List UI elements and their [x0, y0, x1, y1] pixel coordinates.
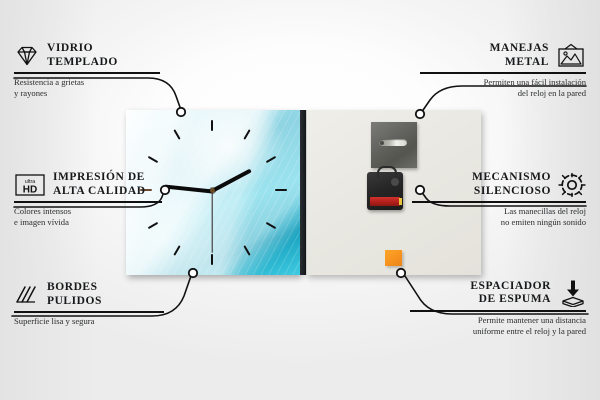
callout-description: Colores intensose imagen vívida — [14, 206, 184, 228]
callout-rule — [412, 201, 586, 203]
polished-edges-icon — [14, 284, 40, 306]
connector-dot-bordes — [189, 269, 197, 277]
callout-mecanismo-silencioso: MECANISMOSILENCIOSO — [412, 171, 586, 228]
callout-manejas-metal: MANEJASMETAL Permiten una fácil instalac… — [420, 42, 586, 99]
callout-rule — [14, 72, 160, 74]
callout-title: VIDRIOTEMPLADO — [47, 42, 118, 69]
callout-bordes-pulidos: BORDESPULIDOS Superficie lisa y segura — [14, 281, 184, 327]
callout-title: ESPACIADORDE ESPUMA — [470, 280, 551, 307]
callout-description: Permite mantener una distanciauniforme e… — [410, 315, 586, 337]
callout-description: Resistencia a grietasy rayones — [14, 77, 174, 99]
callout-description: Las manecillas del relojno emiten ningún… — [412, 206, 586, 228]
connector-dot-vidrio-templado — [177, 108, 185, 116]
callout-impresion-alta-calidad: ultra HD IMPRESIÓN DEALTA CALIDAD Colore… — [14, 171, 184, 228]
diamond-icon — [14, 45, 40, 67]
callout-rule — [420, 72, 586, 74]
connector-dot-manejas — [416, 110, 424, 118]
gear-icon — [558, 172, 586, 198]
callout-vidrio-templado: VIDRIOTEMPLADO Resistencia a grietasy ra… — [14, 42, 174, 99]
callout-rule — [14, 311, 164, 313]
callout-rule — [410, 310, 586, 312]
callout-header: ultra HD IMPRESIÓN DEALTA CALIDAD — [14, 171, 184, 198]
callout-title: IMPRESIÓN DEALTA CALIDAD — [53, 171, 146, 198]
callout-title: BORDESPULIDOS — [47, 281, 102, 308]
callout-description: Permiten una fácil instalacióndel reloj … — [420, 77, 586, 99]
ultra-hd-icon: ultra HD — [14, 172, 46, 198]
callout-description: Superficie lisa y segura — [14, 316, 184, 327]
callout-header: ESPACIADORDE ESPUMA — [410, 279, 586, 307]
svg-text:HD: HD — [23, 184, 37, 195]
connector-dot-espaciador — [397, 269, 405, 277]
callout-espaciador-de-espuma: ESPACIADORDE ESPUMA Permite mantener una… — [410, 279, 586, 337]
infographic-canvas: VIDRIOTEMPLADO Resistencia a grietasy ra… — [0, 0, 600, 400]
picture-frame-icon — [556, 43, 586, 69]
callout-header: MANEJASMETAL — [420, 42, 586, 69]
callout-header: BORDESPULIDOS — [14, 281, 184, 308]
callout-rule — [14, 201, 162, 203]
callout-header: VIDRIOTEMPLADO — [14, 42, 174, 69]
callout-header: MECANISMOSILENCIOSO — [412, 171, 586, 198]
callout-title: MANEJASMETAL — [490, 42, 549, 69]
foam-spacer-icon — [558, 279, 586, 307]
callout-title: MECANISMOSILENCIOSO — [472, 171, 551, 198]
